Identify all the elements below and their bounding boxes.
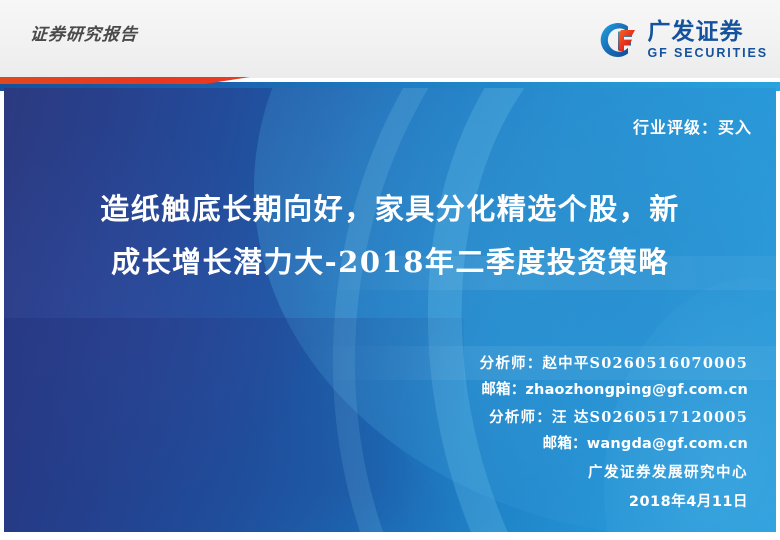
analyst-1-email[interactable]: 邮箱：zhaozhongping@gf.com.cn	[480, 377, 748, 404]
report-type-label: 证券研究报告	[29, 20, 138, 45]
cover-background-stage: 行业评级：买入 造纸触底长期向好，家具分化精选个股，新 成长增长潜力大-2018…	[4, 88, 776, 532]
institution-label: 广发证券发展研究中心	[480, 458, 748, 488]
title-line-1: 造纸触底长期向好，家具分化精选个股，新	[4, 183, 776, 236]
analyst-2-name: 分析师：汪 达S0260517120005	[480, 404, 748, 431]
background-shadow-wing	[4, 318, 464, 532]
slide-header: 证券研究报告	[0, 0, 780, 78]
gf-logo-icon	[598, 19, 640, 61]
gf-logo-name-en: GF SECURITIES	[647, 47, 768, 60]
gf-logo-wordmark: 广发证券 GF SECURITIES	[647, 21, 768, 60]
report-date: 2018年4月11日	[480, 488, 748, 516]
gf-logo-name-cn: 广发证券	[647, 21, 768, 44]
analyst-2-email[interactable]: 邮箱：wangda@gf.com.cn	[480, 431, 748, 458]
title-line-2: 成长增长潜力大-2018年二季度投资策略	[4, 236, 776, 289]
gf-securities-logo: 广发证券 GF SECURITIES	[598, 17, 768, 63]
report-cover-slide: 证券研究报告	[0, 0, 780, 540]
cover-title: 造纸触底长期向好，家具分化精选个股，新 成长增长潜力大-2018年二季度投资策略	[4, 183, 776, 289]
analyst-1-name: 分析师：赵中平S0260516070005	[480, 350, 748, 377]
industry-rating-label: 行业评级：买入	[633, 114, 752, 138]
cover-meta-block: 分析师：赵中平S0260516070005 邮箱：zhaozhongping@g…	[480, 350, 748, 516]
